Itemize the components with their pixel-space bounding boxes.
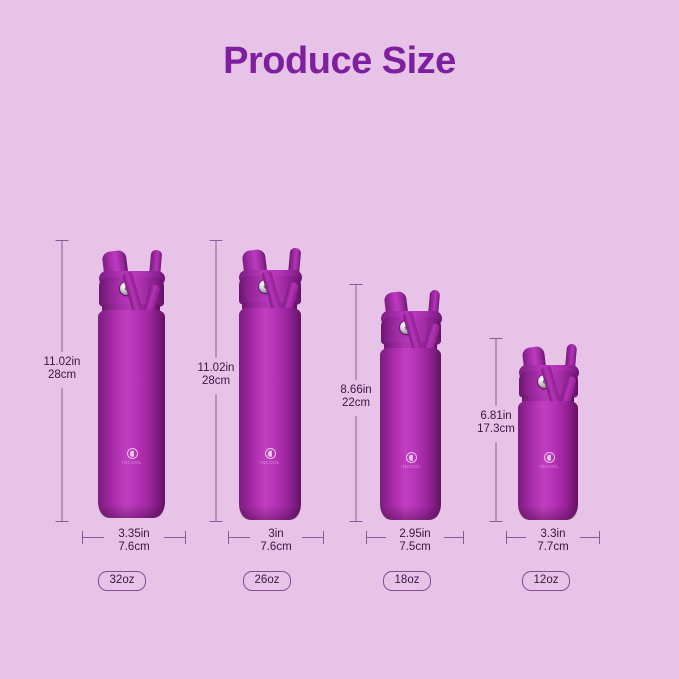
width-cm: 7.6cm [118, 541, 149, 553]
capacity-badge-12oz[interactable]: 12oz [522, 571, 570, 591]
width-label-18oz: 2.95in 7.5cm [366, 528, 464, 554]
height-inches: 11.02in [44, 356, 81, 368]
dim-line-upper [496, 338, 497, 406]
height-dimension-32oz: 11.02in 28cm [32, 240, 92, 522]
bottle-32oz: INCOOL [98, 250, 170, 518]
width-label-12oz: 3.3in 7.7cm [506, 528, 600, 554]
width-inches: 3.3in [541, 528, 566, 540]
bottle-body [380, 348, 441, 520]
page-title: Produce Size [0, 40, 679, 83]
height-cm: 22cm [342, 397, 370, 409]
dim-line-right [302, 537, 324, 538]
width-dimension-32oz: 3.35in 7.6cm [82, 523, 186, 553]
dim-line-lower [62, 388, 63, 522]
dim-line-upper [356, 284, 357, 380]
height-label-32oz: 11.02in 28cm [32, 356, 92, 382]
dim-cap-bottom [56, 521, 69, 522]
dim-line-right [164, 537, 186, 538]
width-inches: 3.35in [118, 528, 149, 540]
dim-line-upper [62, 240, 63, 352]
width-label-26oz: 3in 7.6cm [228, 528, 324, 554]
width-cm: 7.7cm [537, 541, 568, 553]
dim-line-lower [216, 394, 217, 522]
height-inches: 8.66in [340, 384, 371, 396]
height-cm: 28cm [48, 369, 76, 381]
dim-cap-bottom [490, 521, 503, 522]
height-label-18oz: 8.66in 22cm [326, 384, 386, 410]
dim-cap-right [185, 531, 186, 544]
capacity-badge-18oz[interactable]: 18oz [383, 571, 431, 591]
height-dimension-12oz: 6.81in 17.3cm [466, 338, 526, 522]
bottle-body [239, 308, 301, 520]
dim-cap-bottom [350, 521, 363, 522]
bottle-body [518, 401, 578, 520]
height-dimension-18oz: 8.66in 22cm [326, 284, 386, 522]
width-dimension-18oz: 2.95in 7.5cm [366, 523, 464, 553]
dim-cap-bottom [210, 521, 223, 522]
height-label-26oz: 11.02in 28cm [186, 362, 246, 388]
bottle-18oz: INCOOL [380, 290, 448, 520]
dim-line-upper [216, 240, 217, 358]
width-cm: 7.6cm [260, 541, 291, 553]
width-dimension-26oz: 3in 7.6cm [228, 523, 324, 553]
width-inches: 2.95in [399, 528, 430, 540]
dim-line-lower [496, 442, 497, 522]
dim-line-right [444, 537, 464, 538]
dim-line-lower [356, 416, 357, 522]
infographic-canvas: Produce Size INCOOL [0, 0, 679, 679]
dim-cap-right [463, 531, 464, 544]
height-label-12oz: 6.81in 17.3cm [466, 410, 526, 436]
height-cm: 28cm [202, 375, 230, 387]
height-inches: 11.02in [198, 362, 235, 374]
dim-line-right [580, 537, 600, 538]
width-dimension-12oz: 3.3in 7.7cm [506, 523, 600, 553]
bottle-12oz: INCOOL [518, 344, 586, 520]
width-label-32oz: 3.35in 7.6cm [82, 528, 186, 554]
width-inches: 3in [268, 528, 283, 540]
bottle-body [98, 310, 165, 518]
width-cm: 7.5cm [399, 541, 430, 553]
bottle-26oz: INCOOL [238, 248, 308, 520]
capacity-badge-32oz[interactable]: 32oz [98, 571, 146, 591]
dim-cap-right [599, 531, 600, 544]
height-dimension-26oz: 11.02in 28cm [186, 240, 246, 522]
dim-cap-right [323, 531, 324, 544]
height-cm: 17.3cm [477, 423, 515, 435]
capacity-badge-26oz[interactable]: 26oz [243, 571, 291, 591]
height-inches: 6.81in [480, 410, 511, 422]
